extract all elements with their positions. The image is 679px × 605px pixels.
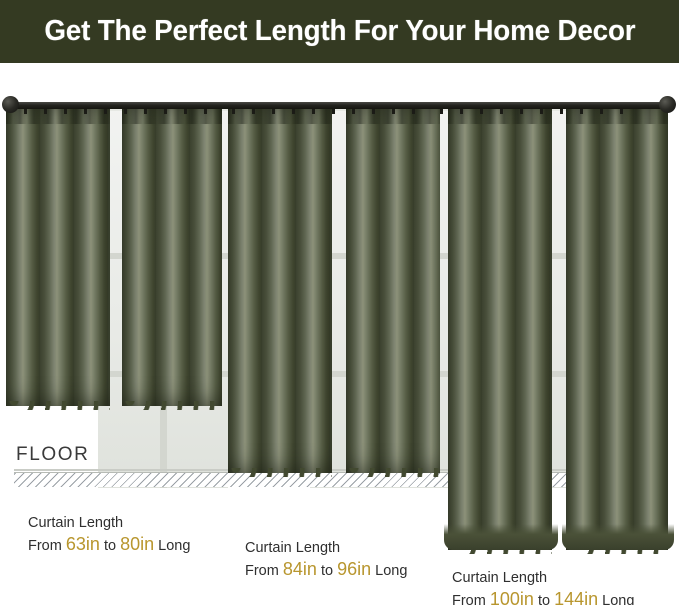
caption-long: Curtain Length From 100in to 144in Long bbox=[452, 568, 634, 605]
caption-short: Curtain Length From 63in to 80in Long bbox=[28, 513, 190, 557]
curtain-group-short bbox=[6, 108, 222, 406]
caption-title: Curtain Length bbox=[245, 538, 407, 559]
caption-title: Curtain Length bbox=[28, 513, 190, 534]
curtain-hem bbox=[346, 468, 440, 477]
page-title: Get The Perfect Length For Your Home Dec… bbox=[44, 15, 635, 48]
caption-max-length: 144in bbox=[554, 589, 598, 605]
curtain-panel bbox=[448, 108, 552, 550]
caption-min-length: 63in bbox=[66, 534, 100, 554]
rod-finial-left-icon bbox=[2, 96, 19, 113]
floor-label: FLOOR bbox=[16, 444, 89, 466]
caption-middle: to bbox=[104, 538, 116, 554]
caption-suffix: Long bbox=[602, 593, 634, 605]
curtain-puddle bbox=[562, 524, 674, 550]
caption-min-length: 84in bbox=[283, 559, 317, 579]
curtain-panel bbox=[122, 108, 222, 406]
curtain-panel bbox=[6, 108, 110, 406]
caption-prefix: From bbox=[452, 593, 486, 605]
curtain-rod bbox=[8, 102, 666, 109]
caption-prefix: From bbox=[245, 563, 279, 579]
curtain-scene: FLOOR bbox=[0, 63, 679, 605]
caption-range: From 100in to 144in Long bbox=[452, 589, 634, 605]
curtain-panel bbox=[566, 108, 668, 550]
curtain-hem bbox=[122, 401, 222, 410]
curtain-group-long bbox=[448, 108, 668, 550]
curtain-puddle bbox=[444, 524, 558, 550]
caption-middle: to bbox=[321, 563, 333, 579]
header-banner: Get The Perfect Length For Your Home Dec… bbox=[0, 0, 679, 63]
caption-medium: Curtain Length From 84in to 96in Long bbox=[245, 538, 407, 582]
caption-title: Curtain Length bbox=[452, 568, 634, 589]
curtain-hem bbox=[228, 468, 332, 477]
curtain-panel bbox=[346, 108, 440, 473]
caption-range: From 63in to 80in Long bbox=[28, 534, 190, 557]
caption-max-length: 80in bbox=[120, 534, 154, 554]
curtain-panel bbox=[228, 108, 332, 473]
caption-max-length: 96in bbox=[337, 559, 371, 579]
caption-suffix: Long bbox=[158, 538, 190, 554]
caption-suffix: Long bbox=[375, 563, 407, 579]
caption-min-length: 100in bbox=[490, 589, 534, 605]
curtain-hem bbox=[6, 401, 110, 410]
caption-prefix: From bbox=[28, 538, 62, 554]
caption-middle: to bbox=[538, 593, 550, 605]
curtain-group-medium bbox=[228, 108, 440, 473]
caption-range: From 84in to 96in Long bbox=[245, 559, 407, 582]
rod-finial-right-icon bbox=[659, 96, 676, 113]
